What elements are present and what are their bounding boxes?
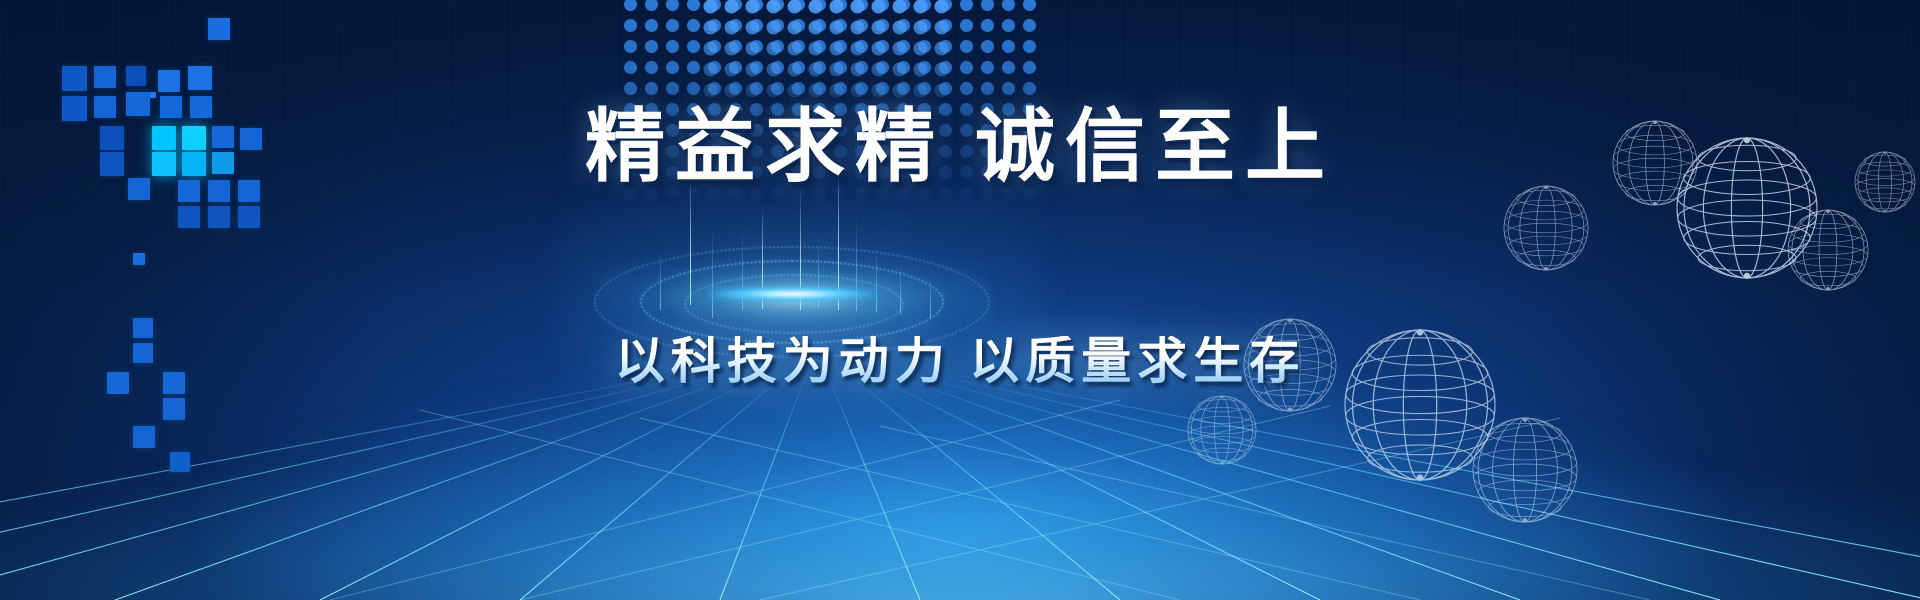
halftone-dot-matrix-bright-icon bbox=[700, 0, 950, 116]
page-subtitle: 以科技为动力 以质量求生存 bbox=[0, 336, 1920, 386]
mosaic-pixel bbox=[133, 318, 153, 338]
mosaic-pixel bbox=[133, 426, 155, 448]
pixel-mosaic-lower bbox=[0, 0, 320, 500]
tech-banner: 精益求精 诚信至上 以科技为动力 以质量求生存 bbox=[0, 0, 1920, 600]
mosaic-pixel bbox=[170, 452, 190, 472]
page-title: 精益求精 诚信至上 bbox=[0, 108, 1920, 188]
center-flare-core bbox=[708, 286, 878, 302]
mosaic-pixel bbox=[163, 398, 185, 420]
mosaic-pixel bbox=[133, 253, 145, 265]
